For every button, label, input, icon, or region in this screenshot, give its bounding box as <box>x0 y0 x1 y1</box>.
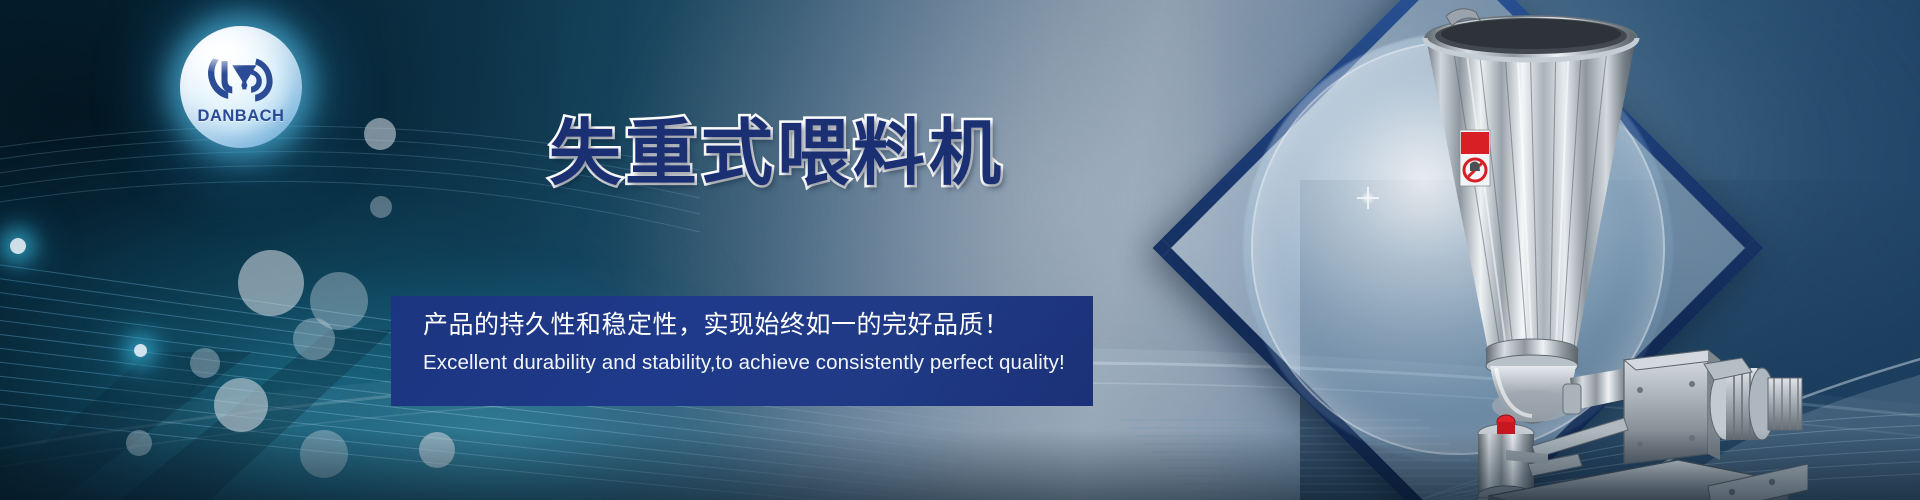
brand-name: DANBACH <box>198 108 285 125</box>
tagline-chinese: 产品的持久性和稳定性，实现始终如一的完好品质！ <box>423 310 1093 341</box>
product-banner: DANBACH 失重式喂料机 产品的持久性和稳定性，实现始终如一的完好品质！ E… <box>0 0 1920 500</box>
tagline-panel: 产品的持久性和稳定性，实现始终如一的完好品质！ Excellent durabi… <box>391 296 1093 406</box>
tagline-english: Excellent durability and stability,to ac… <box>423 350 1093 376</box>
warning-label-no-hands <box>1460 130 1490 186</box>
product-showcase <box>1108 0 1808 500</box>
product-image <box>1108 0 1808 500</box>
danbach-monogram-icon <box>204 54 278 106</box>
brand-logo[interactable]: DANBACH <box>180 26 302 148</box>
page-title: 失重式喂料机 <box>549 118 1005 190</box>
